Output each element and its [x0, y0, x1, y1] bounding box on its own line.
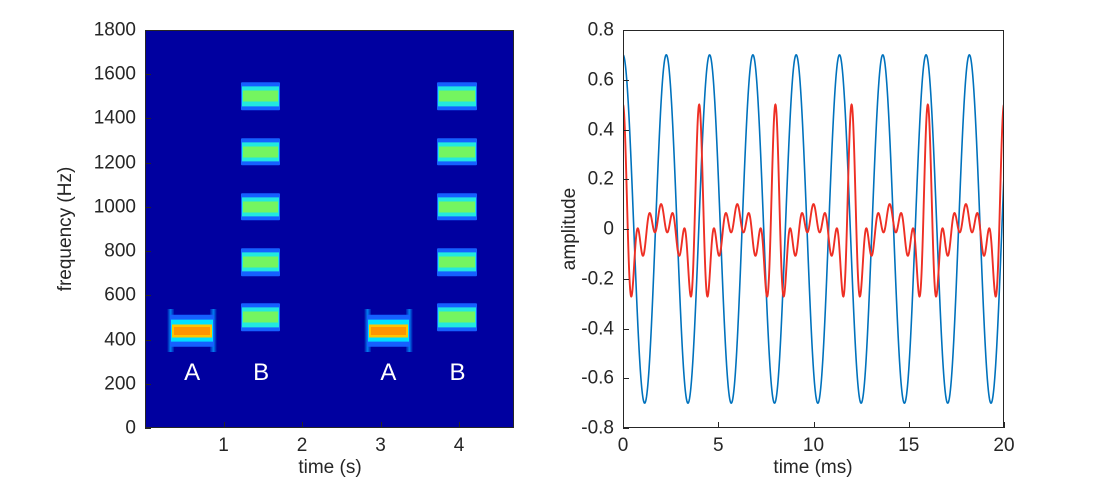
tick-label: -0.8: [581, 419, 614, 438]
tick-label: 2: [297, 436, 308, 455]
tick-mark: [623, 422, 624, 428]
tick-label: 800: [104, 242, 136, 261]
tick-label: -0.4: [581, 319, 614, 338]
tick-label: -0.2: [581, 269, 614, 288]
spectrogram-y-axis-label: frequency (Hz): [77, 104, 99, 229]
tick-mark: [623, 30, 629, 31]
tick-mark: [145, 428, 151, 429]
tick-label: 5: [713, 436, 724, 455]
spectrogram-axes: ABAB: [145, 30, 514, 428]
waveform-x-axis-label: time (ms): [773, 457, 852, 479]
tick-mark: [623, 378, 629, 379]
waveform-y-axis-label: amplitude: [581, 147, 603, 229]
tick-label: 1400: [94, 109, 136, 128]
tick-mark: [145, 30, 151, 31]
tick-mark: [459, 422, 460, 428]
matlab-figure: ABAB 020040060080010001200140016001800 1…: [0, 0, 1100, 489]
tick-mark: [145, 384, 151, 385]
tick-mark: [623, 279, 629, 280]
tick-label: 400: [104, 330, 136, 349]
tick-mark: [1004, 422, 1005, 428]
tick-label: 1200: [94, 153, 136, 172]
tick-label: 0: [618, 436, 629, 455]
tick-mark: [623, 329, 629, 330]
tick-mark: [623, 80, 629, 81]
tick-mark: [302, 422, 303, 428]
tick-mark: [623, 179, 629, 180]
tick-mark: [145, 295, 151, 296]
tick-label: 0.6: [588, 70, 614, 89]
tick-label: 200: [104, 374, 136, 393]
tick-label: 1800: [94, 21, 136, 40]
tick-label: 4: [454, 436, 465, 455]
tick-label: 1: [218, 436, 229, 455]
tick-label: 20: [993, 436, 1014, 455]
tick-label: 1600: [94, 65, 136, 84]
tick-mark: [718, 422, 719, 428]
tick-mark: [381, 422, 382, 428]
tick-label: 3: [375, 436, 386, 455]
tick-mark: [623, 229, 629, 230]
tick-label: 0: [125, 419, 136, 438]
waveform-axes-box: [623, 30, 1004, 428]
spectrogram-axes-box: [145, 30, 514, 428]
spectrogram-x-axis-label: time (s): [298, 457, 361, 479]
tick-label: 0.4: [588, 120, 614, 139]
tick-label: 0.8: [588, 21, 614, 40]
tick-mark: [145, 207, 151, 208]
tick-mark: [145, 163, 151, 164]
tick-label: 600: [104, 286, 136, 305]
tick-mark: [145, 251, 151, 252]
tick-mark: [814, 422, 815, 428]
tick-label: -0.6: [581, 369, 614, 388]
tick-label: 10: [803, 436, 824, 455]
waveform-axes: [623, 30, 1004, 428]
tick-label: 1000: [94, 197, 136, 216]
tick-mark: [145, 74, 151, 75]
tick-mark: [224, 422, 225, 428]
tick-mark: [909, 422, 910, 428]
tick-label: 0: [603, 220, 614, 239]
tick-mark: [623, 130, 629, 131]
tick-mark: [145, 118, 151, 119]
tick-mark: [623, 428, 629, 429]
tick-label: 15: [898, 436, 919, 455]
tick-mark: [145, 340, 151, 341]
